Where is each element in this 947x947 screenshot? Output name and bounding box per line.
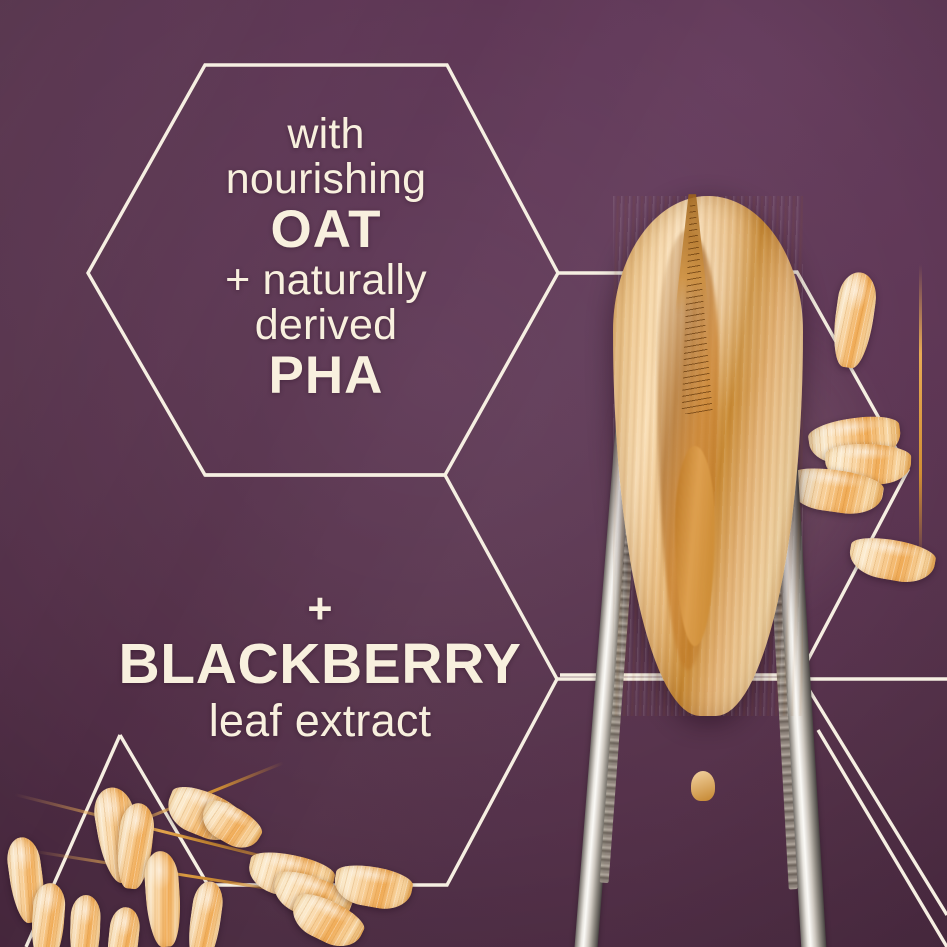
callout-line-naturally: + naturally: [150, 258, 502, 304]
callout-line-oat: OAT: [150, 202, 502, 258]
ingredient-callout-banner: with nourishing OAT + naturally derived …: [0, 0, 947, 947]
callout-line-with: with: [150, 112, 502, 158]
blackberry-sub-line: leaf extract: [60, 696, 580, 746]
oat-pha-callout: with nourishing OAT + naturally derived …: [150, 112, 502, 405]
callout-line-nourishing: nourishing: [150, 157, 502, 203]
blackberry-plus-sign: +: [60, 588, 580, 631]
blackberry-brand-line: BLACKBERRY: [60, 635, 580, 695]
blackberry-callout: + BLACKBERRY leaf extract: [60, 588, 580, 745]
callout-line-derived: derived: [150, 303, 502, 349]
oat-grain-node: [691, 771, 715, 801]
callout-line-pha: PHA: [150, 348, 502, 404]
oat-grain-hero: [613, 196, 803, 716]
